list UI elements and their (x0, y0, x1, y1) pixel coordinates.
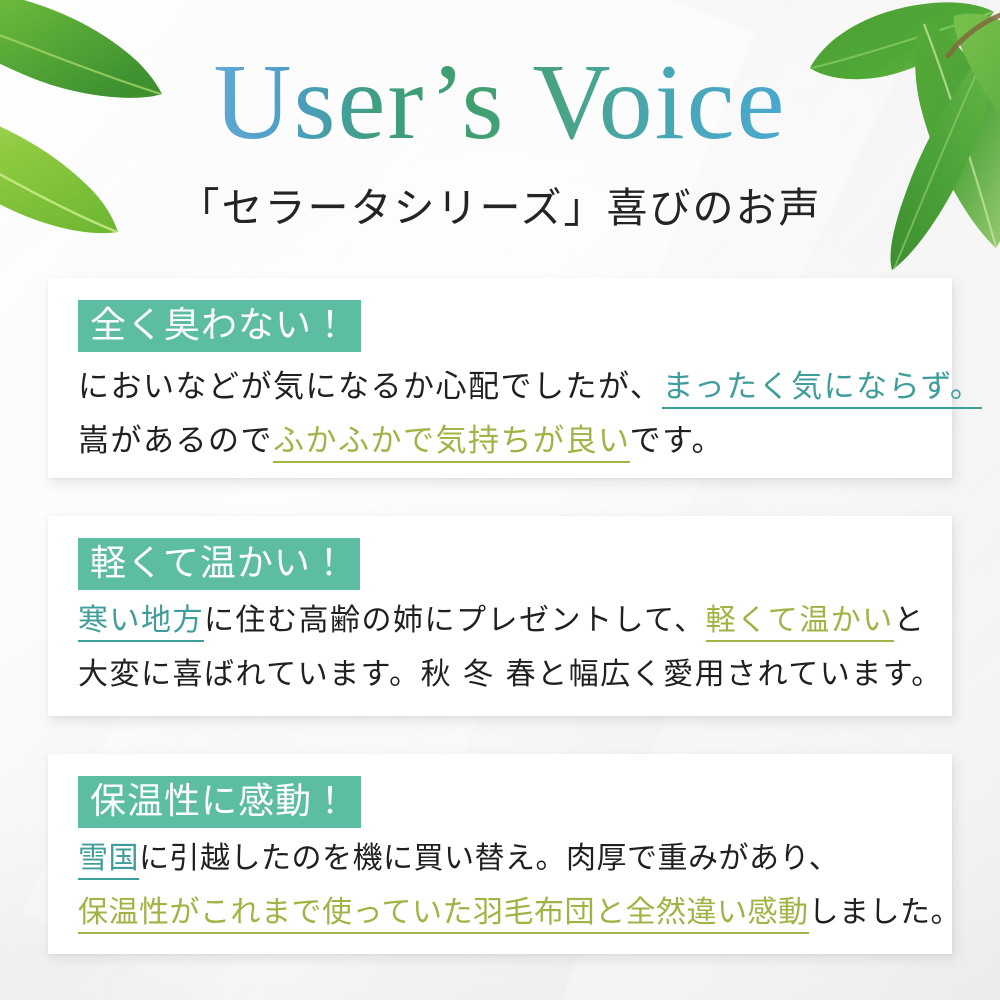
page-header: User’s Voice 「セラータシリーズ」喜びのお声 (0, 46, 1000, 234)
line-text-plain: に住む高齢の姉にプレゼントして、 (204, 603, 706, 638)
poster-canvas: User’s Voice 「セラータシリーズ」喜びのお声 全く臭わない！ におい… (0, 0, 1000, 1000)
line-text-highlight-olive: 軽くて温かい (706, 603, 894, 642)
line-text-plain: 大変に喜ばれています。秋 冬 春と幅広く愛用されています。 (78, 657, 943, 692)
testimonial-card: 全く臭わない！ においなどが気になるか心配でしたが、まったく気にならず。 嵩があ… (48, 278, 952, 478)
line-text-plain: においなどが気になるか心配でしたが、 (78, 369, 662, 405)
testimonial-body: 雪国に引越したのを機に買い替え。肉厚で重みがあり、 保温性がこれまで使っていた羽… (78, 832, 922, 940)
page-subtitle: 「セラータシリーズ」喜びのお声 (0, 174, 1000, 234)
testimonial-line: 保温性がこれまで使っていた羽毛布団と全然違い感動しました。 (78, 886, 922, 940)
testimonial-card: 軽くて温かい！ 寒い地方に住む高齢の姉にプレゼントして、軽くて温かいと 大変に喜… (48, 516, 952, 716)
testimonial-line: 雪国に引越したのを機に買い替え。肉厚で重みがあり、 (78, 832, 922, 886)
testimonial-body: 寒い地方に住む高齢の姉にプレゼントして、軽くて温かいと 大変に喜ばれています。秋… (78, 594, 922, 702)
testimonial-badge: 全く臭わない！ (78, 300, 361, 352)
page-title: User’s Voice (0, 46, 1000, 160)
line-text-plain: と (894, 603, 926, 638)
testimonial-card: 保温性に感動！ 雪国に引越したのを機に買い替え。肉厚で重みがあり、 保温性がこれ… (48, 754, 952, 954)
line-text-plain: 嵩があるので (78, 423, 273, 459)
testimonial-line: 寒い地方に住む高齢の姉にプレゼントして、軽くて温かいと (78, 594, 922, 648)
testimonial-line: 嵩があるのでふかふかで気持ちが良いです。 (78, 414, 922, 468)
line-text-plain: しました。 (809, 895, 962, 930)
testimonial-line: 大変に喜ばれています。秋 冬 春と幅広く愛用されています。 (78, 648, 922, 702)
line-text-plain: に引越したのを機に買い替え。肉厚で重みがあり、 (139, 841, 839, 876)
line-text-highlight-olive: ふかふかで気持ちが良い (273, 423, 630, 463)
line-text-highlight-teal: 寒い地方 (78, 603, 204, 642)
line-text-highlight-olive: 保温性がこれまで使っていた羽毛布団と全然違い感動 (78, 895, 809, 934)
testimonial-list: 全く臭わない！ においなどが気になるか心配でしたが、まったく気にならず。 嵩があ… (48, 278, 952, 954)
testimonial-line: においなどが気になるか心配でしたが、まったく気にならず。 (78, 360, 922, 414)
line-text-plain: です。 (630, 423, 724, 459)
line-text-highlight-teal: まったく気にならず。 (662, 369, 982, 409)
testimonial-badge: 軽くて温かい！ (78, 538, 360, 590)
testimonial-body: においなどが気になるか心配でしたが、まったく気にならず。 嵩があるのでふかふかで… (78, 360, 922, 468)
testimonial-badge: 保温性に感動！ (78, 776, 361, 828)
line-text-highlight-teal: 雪国 (78, 841, 139, 880)
